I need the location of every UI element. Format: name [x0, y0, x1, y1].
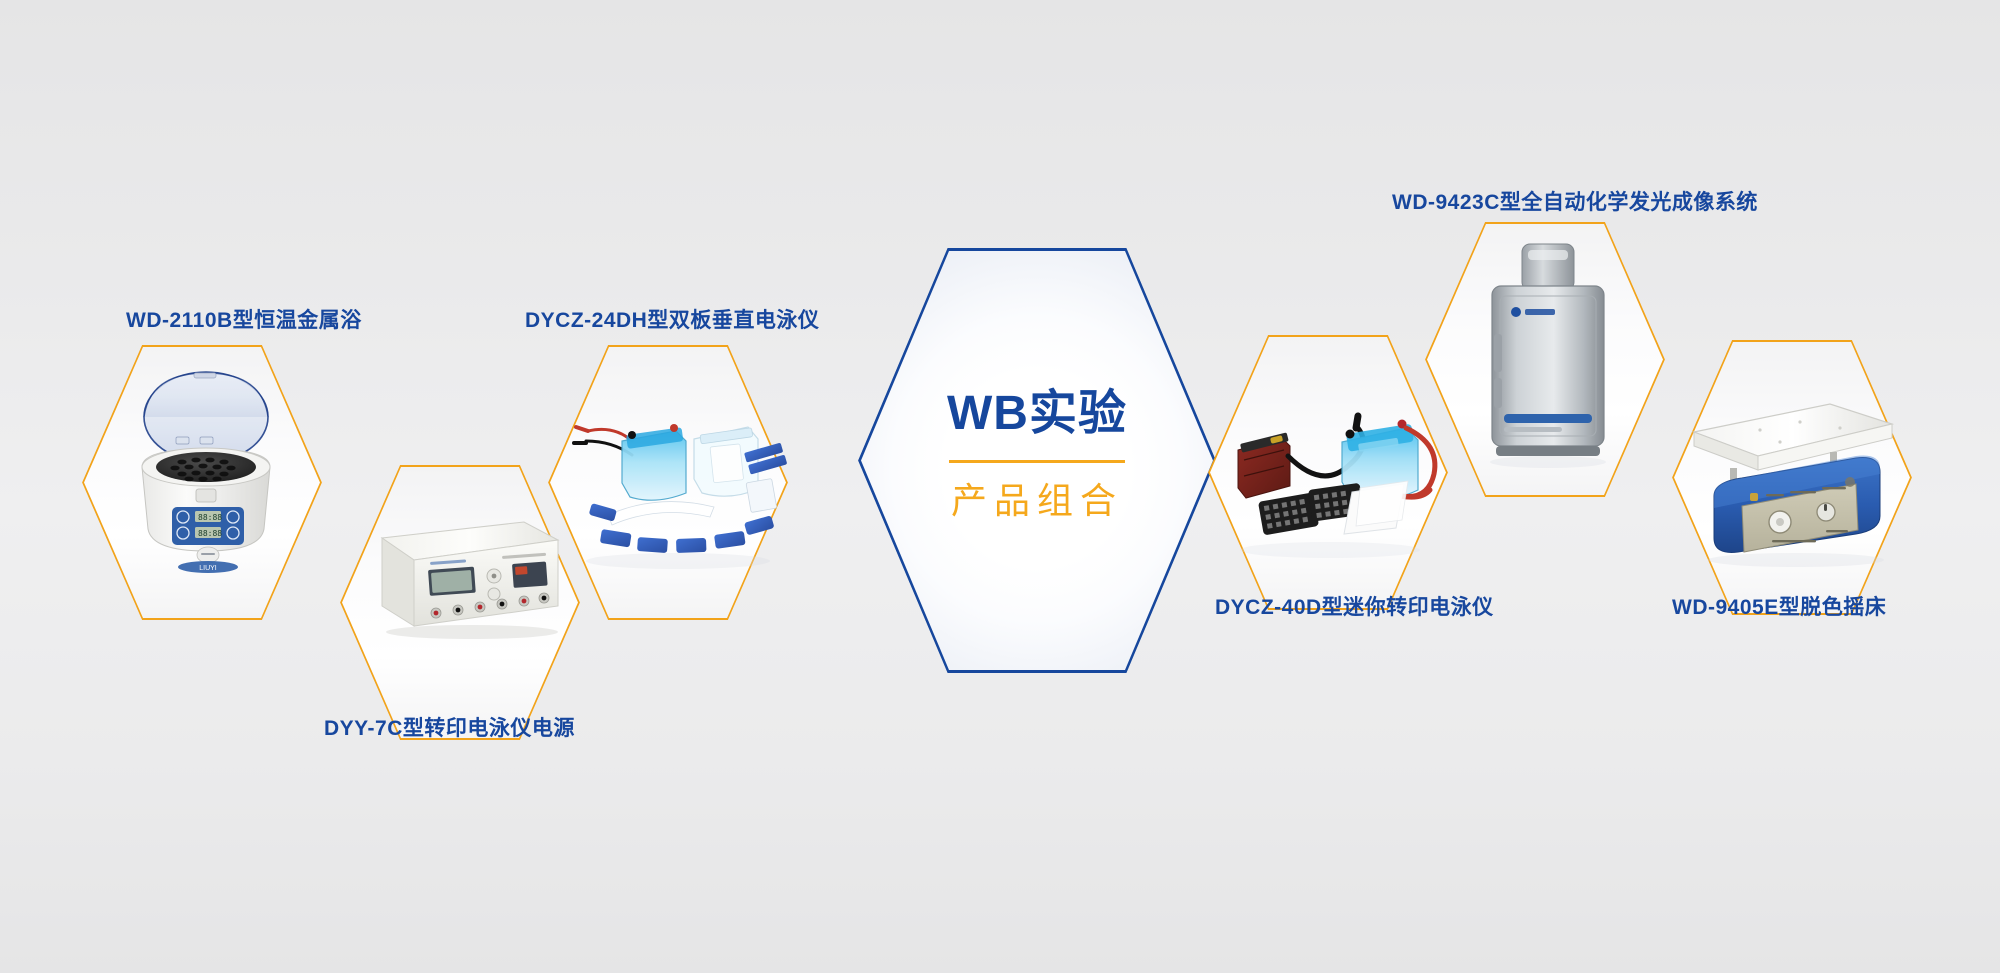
poster-canvas: WD-2110B型恒温金属浴 — [0, 0, 2000, 973]
center-title: WB实验 — [947, 390, 1127, 438]
product-label-wd-2110b: WD-2110B型恒温金属浴 — [126, 310, 362, 331]
destaining-shaker-icon — [1680, 390, 1906, 580]
vertical-electrophoresis-icon — [548, 365, 788, 600]
svg-text:88:88: 88:88 — [198, 513, 222, 522]
product-label-dycz-24dh: DYCZ-24DH型双板垂直电泳仪 — [525, 310, 819, 331]
power-supply-icon — [352, 480, 568, 660]
svg-text:88:88: 88:88 — [198, 529, 222, 538]
chemiluminescence-imager-icon — [1478, 238, 1618, 478]
mini-blotter-icon — [1218, 360, 1444, 586]
center-divider — [949, 460, 1125, 463]
product-label-wd-9405e: WD-9405E型脱色摇床 — [1672, 597, 1886, 618]
product-label-dycz-40d: DYCZ-40D型迷你转印电泳仪 — [1215, 597, 1494, 618]
center-subtitle: 产品组合 — [951, 483, 1123, 519]
product-label-wd-9423c: WD-9423C型全自动化学发光成像系统 — [1392, 192, 1758, 213]
center-text-block: WB实验 产品组合 — [858, 390, 1216, 519]
metal-bath-icon: 88:8888:88 LIUYI — [120, 355, 290, 605]
svg-text:LIUYI: LIUYI — [199, 565, 217, 572]
product-label-dyy-7c: DYY-7C型转印电泳仪电源 — [324, 718, 575, 739]
